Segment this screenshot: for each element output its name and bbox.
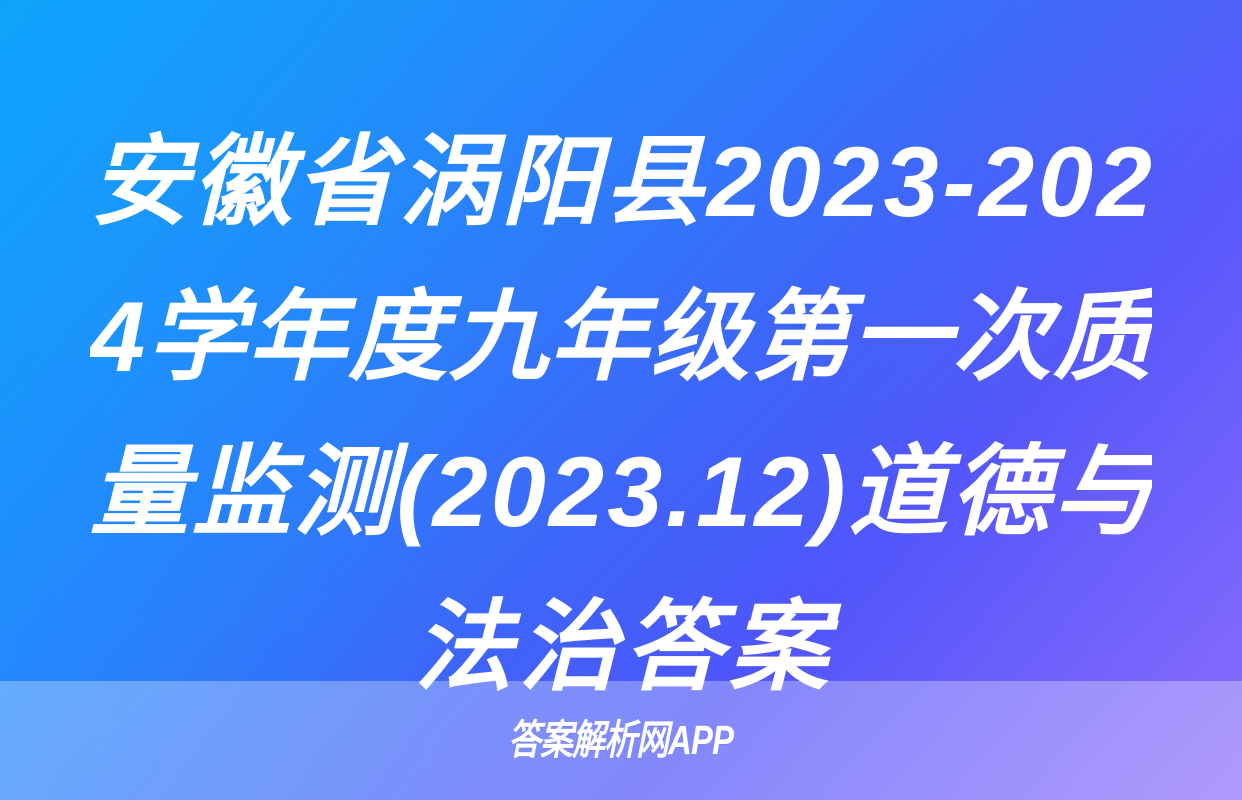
watermark-label: 答案解析网APP xyxy=(508,720,733,761)
title-line-3: 量监测(2023.12)道德与 xyxy=(90,414,1152,569)
title-line-1-text: 安徽省涡阳县2023-202 xyxy=(90,104,1152,259)
title-line-3-text: 量监测(2023.12)道德与 xyxy=(90,414,1152,569)
poster-canvas: 安徽省涡阳县2023-202 4学年度九年级第一次质 量监测(2023.12)道… xyxy=(0,0,1242,800)
title-line-1: 安徽省涡阳县2023-202 xyxy=(90,104,1152,259)
watermark-banner: 答案解析网APP xyxy=(0,681,1242,800)
title-line-2: 4学年度九年级第一次质 xyxy=(90,259,1152,414)
page-title: 安徽省涡阳县2023-202 4学年度九年级第一次质 量监测(2023.12)道… xyxy=(90,104,1152,724)
title-line-2-text: 4学年度九年级第一次质 xyxy=(90,259,1152,414)
